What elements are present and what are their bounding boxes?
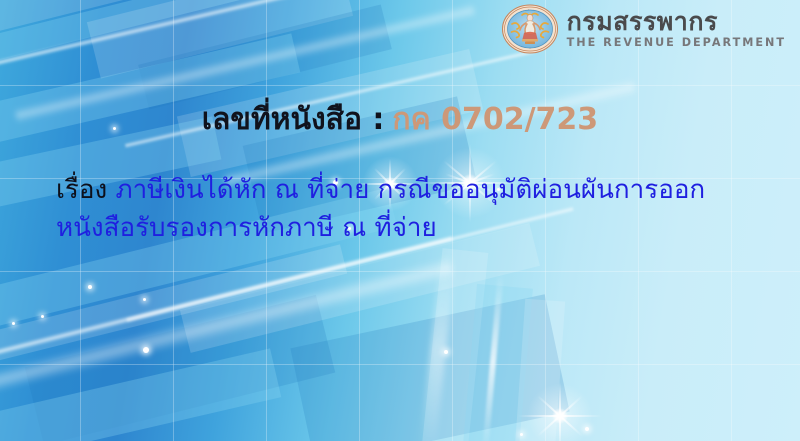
subject-line-2: หนังสือรับรองการหักภาษี ณ ที่จ่าย — [56, 213, 437, 243]
background-shard — [25, 295, 335, 441]
document-number-label: เลขที่หนังสือ : — [202, 102, 385, 137]
subject-keyword: เรื่อง — [56, 175, 107, 205]
background-shard — [0, 0, 269, 43]
background-shard — [0, 244, 347, 377]
subject-block: เรื่อง ภาษีเงินได้หัก ณ ที่จ่าย กรณีขออน… — [56, 172, 756, 248]
lens-flare-star — [520, 376, 600, 441]
revenue-department-logo: กรมสรรพากร THE REVENUE DEPARTMENT — [502, 4, 786, 54]
sparkle-dot — [444, 350, 448, 354]
sparkle-dot — [143, 347, 149, 353]
light-streak — [0, 0, 375, 73]
logo-thai-name: กรมสรรพากร — [567, 9, 786, 34]
sparkle-dot — [41, 315, 44, 318]
document-number-line: เลขที่หนังสือ :กค 0702/723 — [0, 96, 800, 143]
flare-ray — [559, 382, 561, 441]
slide-canvas: กรมสรรพากร THE REVENUE DEPARTMENT เลขที่… — [0, 0, 800, 441]
background-shard — [0, 0, 259, 68]
document-number-value: กค 0702/723 — [392, 102, 598, 137]
logo-english-name: THE REVENUE DEPARTMENT — [567, 37, 786, 48]
light-streak — [0, 235, 453, 368]
background-shard — [422, 248, 489, 441]
logo-wordmark: กรมสรรพากร THE REVENUE DEPARTMENT — [567, 9, 786, 48]
sparkle-dot — [143, 298, 146, 301]
sparkle-dot — [12, 322, 15, 325]
light-streak — [482, 272, 504, 441]
subject-line-1: ภาษีเงินได้หัก ณ ที่จ่าย กรณีขออนุมัติผ่… — [115, 175, 705, 205]
light-streak — [420, 250, 457, 441]
background-shard — [0, 348, 281, 441]
thai-revenue-department-seal-icon — [502, 4, 558, 54]
background-shard — [138, 4, 392, 109]
sparkle-dot — [88, 285, 92, 289]
background-shard — [87, 0, 353, 79]
light-streak — [0, 257, 454, 414]
